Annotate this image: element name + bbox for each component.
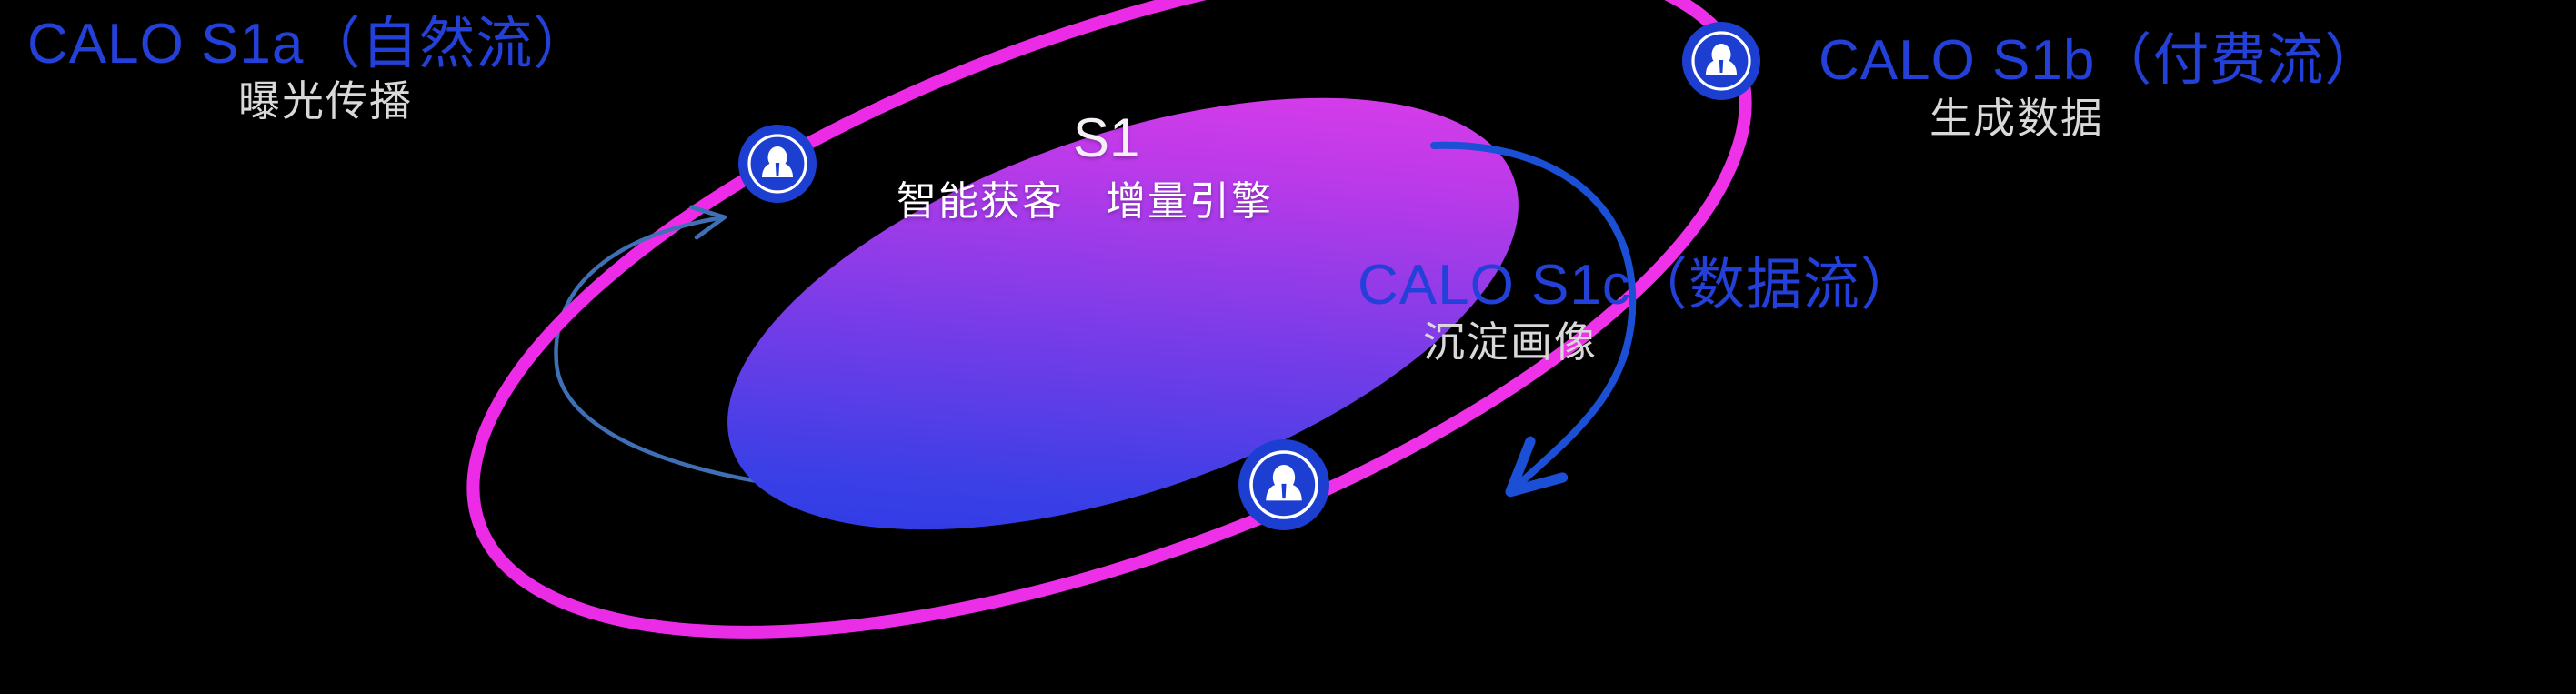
node-s1c[interactable]	[1238, 439, 1329, 530]
node-s1c-title: CALO S1c（数据流）	[1358, 257, 1918, 314]
node-s1b-title: CALO S1b（付费流）	[1819, 33, 2381, 89]
node-s1a[interactable]	[738, 125, 817, 203]
diagram-canvas: S1 智能获客 增量引擎 CALO S1a（自然流） 曝光传播 CALO S1b…	[0, 0, 2576, 694]
node-s1c-subtitle: 沉淀画像	[1423, 321, 1598, 363]
node-s1a-title: CALO S1a（自然流）	[27, 16, 590, 73]
core-subtitle: 智能获客 增量引擎	[897, 182, 1273, 222]
node-s1b[interactable]	[1682, 22, 1760, 100]
node-s1a-subtitle: 曝光传播	[238, 80, 413, 122]
core-title: S1	[1073, 111, 1139, 166]
node-s1b-subtitle: 生成数据	[1929, 97, 2104, 139]
